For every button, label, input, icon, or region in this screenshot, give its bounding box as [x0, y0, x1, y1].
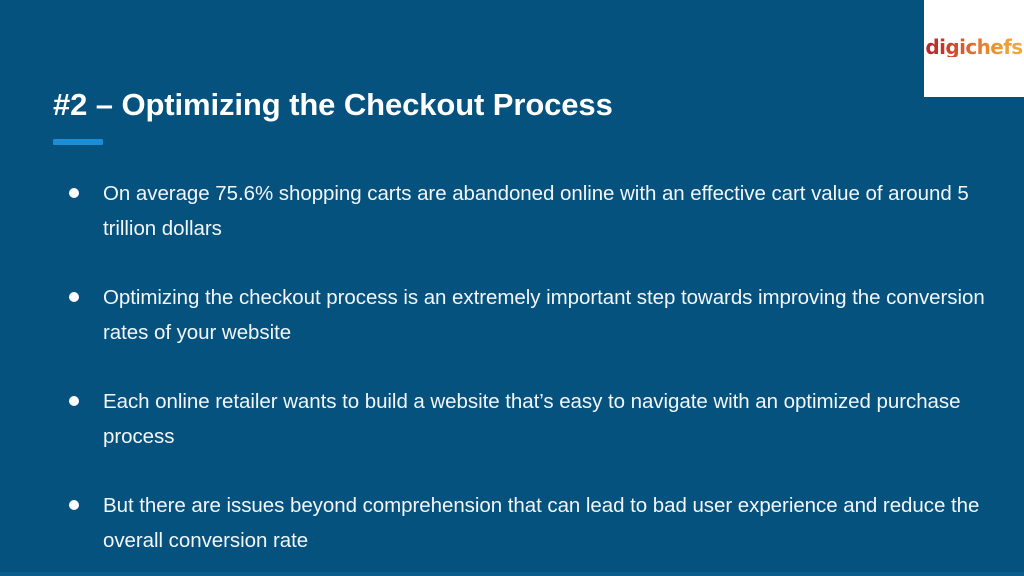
slide-bottom-edge — [0, 572, 1024, 576]
brand-logo-plate: digichefs — [924, 0, 1024, 97]
list-item: Each online retailer wants to build a we… — [62, 384, 992, 454]
bullet-text: But there are issues beyond comprehensio… — [103, 488, 992, 558]
bullet-list: On average 75.6% shopping carts are aban… — [62, 176, 992, 558]
bullet-text: Each online retailer wants to build a we… — [103, 384, 992, 454]
bullet-text: On average 75.6% shopping carts are aban… — [103, 176, 992, 246]
bullet-dot-icon — [69, 396, 79, 406]
title-accent-rule — [53, 139, 103, 145]
bullet-dot-icon — [69, 188, 79, 198]
list-item: But there are issues beyond comprehensio… — [62, 488, 992, 558]
list-item: Optimizing the checkout process is an ex… — [62, 280, 992, 350]
bullet-dot-icon — [69, 500, 79, 510]
digichefs-logo-wordmark: digichefs — [925, 37, 1022, 57]
slide-title: #2 – Optimizing the Checkout Process — [53, 87, 613, 123]
bullet-text: Optimizing the checkout process is an ex… — [103, 280, 992, 350]
list-item: On average 75.6% shopping carts are aban… — [62, 176, 992, 246]
bullet-dot-icon — [69, 292, 79, 302]
presentation-slide: digichefs #2 – Optimizing the Checkout P… — [0, 0, 1024, 576]
